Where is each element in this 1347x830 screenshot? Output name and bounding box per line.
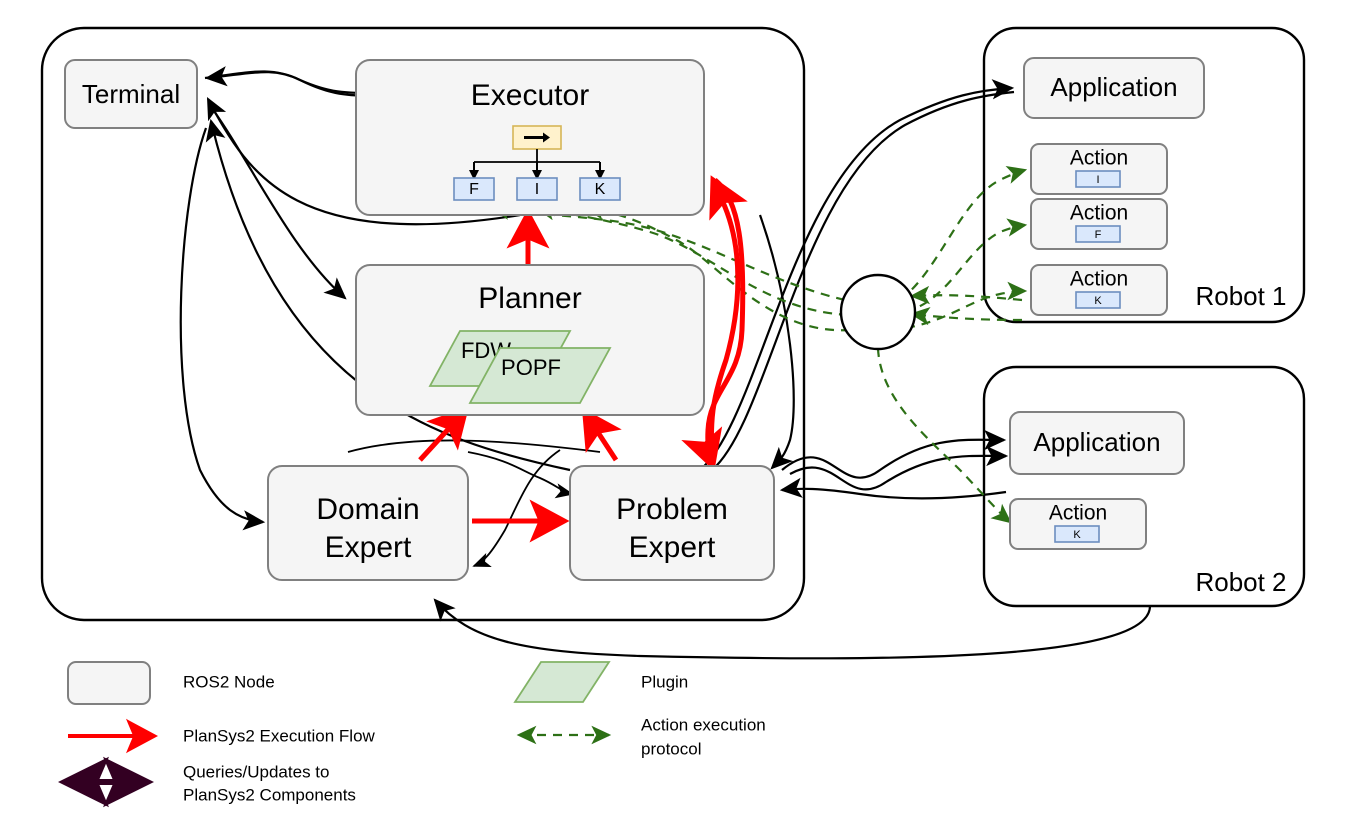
problem-expert-label-line2: Expert xyxy=(629,531,716,564)
legend-queries-updates-label-line1: Queries/Updates to xyxy=(183,762,329,781)
robot1-action-0-badge: I xyxy=(1096,174,1099,186)
legend-plugin-glyph xyxy=(515,662,609,702)
connector-terminal-to-domain-expert xyxy=(181,128,263,522)
robot1-action-2-badge: K xyxy=(1094,295,1102,307)
connector-executor-to-terminal xyxy=(207,72,378,93)
planner-label: Planner xyxy=(478,282,581,315)
protocol-hub-to-robot1-action-i xyxy=(900,170,1025,300)
legend-queries-updates-label-line2: PlanSys2 Components xyxy=(183,785,356,804)
problem-expert-node[interactable]: Problem Expert xyxy=(570,466,774,580)
robot2-application-label: Application xyxy=(1033,427,1160,457)
legend-item-action-protocol: Action execution protocol xyxy=(521,715,766,758)
diagram-canvas: Terminal Executor F I K xyxy=(0,0,1347,830)
domain-expert-label-line1: Domain xyxy=(316,493,419,526)
robot2-action-0[interactable]: Action K xyxy=(1010,499,1146,549)
legend-item-plugin: Plugin xyxy=(515,662,688,702)
robot1-action-2-label: Action xyxy=(1070,268,1128,291)
legend-plugin-label: Plugin xyxy=(641,672,688,691)
protocol-hub-to-robot1-action-f xyxy=(905,225,1025,312)
robot1-action-0-label: Action xyxy=(1070,147,1128,170)
legend: ROS2 Node Plugin PlanSys2 Execution Flow… xyxy=(68,662,766,804)
protocol-hub-to-robot2-action-k xyxy=(878,348,1010,522)
robot2-action-0-label: Action xyxy=(1049,502,1107,525)
connector-terminal-to-planner xyxy=(209,104,345,298)
protocol-robot1-to-hub-a xyxy=(912,295,1022,300)
robot2-title: Robot 2 xyxy=(1195,567,1286,597)
action-router-hub xyxy=(841,275,915,349)
legend-action-protocol-label-line2: protocol xyxy=(641,739,701,758)
flow-problem-expert-to-planner xyxy=(586,414,616,460)
legend-item-ros2-node: ROS2 Node xyxy=(68,662,275,704)
robot2-action-0-badge: K xyxy=(1073,529,1081,541)
executor-node[interactable]: Executor F I K xyxy=(356,60,704,215)
executor-label: Executor xyxy=(471,79,589,112)
bt-leaf-2-label: K xyxy=(595,181,606,198)
protocol-robot1-to-hub-b xyxy=(912,314,1022,320)
terminal-node[interactable]: Terminal xyxy=(65,60,197,128)
bt-leaf-1-label: I xyxy=(535,181,539,198)
plugin-popf-label: POPF xyxy=(501,355,561,380)
connector-robot2-to-problem-expert xyxy=(782,489,1006,498)
robot1-application-label: Application xyxy=(1050,72,1177,102)
legend-item-execution-flow: PlanSys2 Execution Flow xyxy=(68,726,376,745)
robot1-action-0[interactable]: Action I xyxy=(1031,144,1167,194)
robot1-application-node[interactable]: Application xyxy=(1024,58,1204,118)
connector-robot2-to-domain-expert xyxy=(435,600,1150,658)
planner-node[interactable]: Planner FDW POPF xyxy=(356,265,704,415)
legend-action-protocol-label-line1: Action execution xyxy=(641,715,766,734)
terminal-label: Terminal xyxy=(82,79,180,109)
legend-execution-flow-label: PlanSys2 Execution Flow xyxy=(183,726,376,745)
domain-expert-node[interactable]: Domain Expert xyxy=(268,466,468,580)
legend-ros2-node-label: ROS2 Node xyxy=(183,672,275,691)
robot1-action-1-label: Action xyxy=(1070,202,1128,225)
robot1-action-2[interactable]: Action K xyxy=(1031,265,1167,315)
flow-domain-expert-to-planner xyxy=(420,412,464,460)
connector-to-robot2-application xyxy=(782,440,1004,478)
problem-expert-label-line1: Problem xyxy=(616,493,728,526)
domain-expert-label-line2: Expert xyxy=(325,531,412,564)
bt-leaf-0-label: F xyxy=(469,181,479,198)
robot1-action-1-badge: F xyxy=(1095,229,1102,241)
robot2-application-node[interactable]: Application xyxy=(1010,412,1184,474)
robot1-action-1[interactable]: Action F xyxy=(1031,199,1167,249)
legend-ros2-node-glyph xyxy=(68,662,150,704)
robot1-title: Robot 1 xyxy=(1195,281,1286,311)
connector-planner-support xyxy=(348,440,600,452)
legend-item-queries-updates: Queries/Updates to PlanSys2 Components xyxy=(70,762,356,804)
